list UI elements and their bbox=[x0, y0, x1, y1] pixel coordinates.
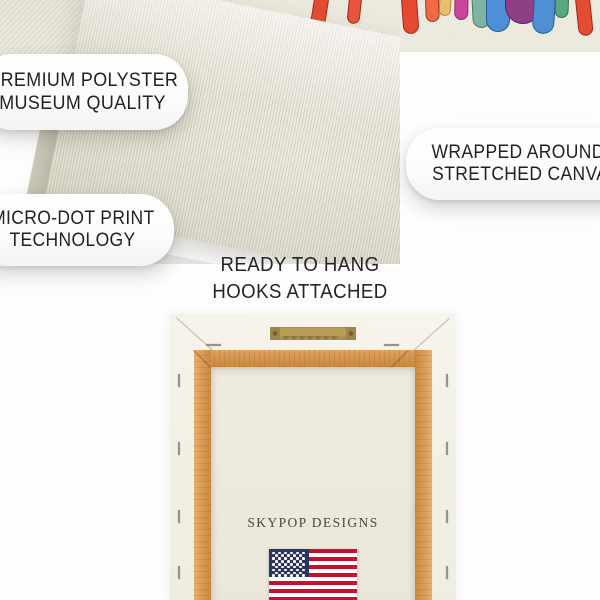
staple bbox=[446, 442, 448, 455]
heading-line-2: HOOKS ATTACHED bbox=[21, 279, 579, 306]
flag-star bbox=[302, 569, 305, 572]
flag-star bbox=[278, 574, 281, 577]
ready-to-hang-heading: READY TO HANG HOOKS ATTACHED bbox=[0, 252, 600, 306]
staple bbox=[446, 374, 448, 387]
staple bbox=[178, 374, 180, 387]
badge-wrapped-around: WRAPPED AROUND STRETCHED CANVAS bbox=[406, 128, 600, 200]
flag-star bbox=[293, 566, 296, 569]
staple bbox=[206, 344, 221, 346]
flag-star bbox=[284, 574, 287, 577]
flag-star bbox=[272, 569, 275, 572]
flag-stars bbox=[269, 549, 357, 600]
brand-label: SKYPOP DESIGNS bbox=[211, 515, 415, 531]
product-feature-graphic: PREMIUM POLYSTER MUSEUM QUALITY WRAPPED … bbox=[0, 0, 600, 600]
flag-star bbox=[272, 574, 275, 577]
flag-star bbox=[287, 566, 290, 569]
badge-line-2: MUSEUM QUALITY bbox=[0, 92, 166, 115]
us-flag-icon bbox=[269, 549, 357, 600]
stretcher-bar-right bbox=[415, 350, 432, 600]
wooden-stretcher-frame: SKYPOP DESIGNS bbox=[194, 350, 432, 600]
flag-star bbox=[302, 557, 305, 560]
paint-drip bbox=[424, 0, 440, 22]
flag-star bbox=[302, 563, 305, 566]
badge-line-2: STRETCHED CANVAS bbox=[432, 164, 600, 186]
sawtooth-hanger-icon bbox=[270, 326, 356, 343]
flag-star bbox=[299, 566, 302, 569]
flag-star bbox=[296, 569, 299, 572]
staple bbox=[446, 510, 448, 523]
flag-star bbox=[278, 569, 281, 572]
flag-star bbox=[302, 574, 305, 577]
paint-drip bbox=[454, 0, 469, 20]
flag-star bbox=[275, 560, 278, 563]
flag-star bbox=[290, 569, 293, 572]
flag-star bbox=[275, 566, 278, 569]
flag-star bbox=[281, 566, 284, 569]
badge-line-2: TECHNOLOGY bbox=[10, 230, 136, 252]
staple bbox=[178, 442, 180, 455]
staple bbox=[446, 566, 448, 579]
flag-star bbox=[290, 574, 293, 577]
flag-star bbox=[296, 574, 299, 577]
canvas-back-view: SKYPOP DESIGNS bbox=[170, 314, 456, 600]
badge-premium-polyster: PREMIUM POLYSTER MUSEUM QUALITY bbox=[0, 54, 188, 130]
canvas-back-inner-panel: SKYPOP DESIGNS bbox=[211, 367, 415, 600]
staple bbox=[178, 510, 180, 523]
heading-line-1: READY TO HANG bbox=[21, 252, 579, 279]
staple bbox=[178, 566, 180, 579]
badge-line-1: MICRO-DOT PRINT bbox=[0, 208, 155, 230]
flag-star bbox=[302, 552, 305, 555]
badge-line-1: WRAPPED AROUND bbox=[432, 142, 600, 164]
flag-star bbox=[284, 569, 287, 572]
badge-line-1: PREMIUM POLYSTER bbox=[0, 69, 178, 92]
flag-star bbox=[272, 563, 275, 566]
staple bbox=[384, 344, 399, 346]
stretcher-bar-left bbox=[194, 350, 211, 600]
